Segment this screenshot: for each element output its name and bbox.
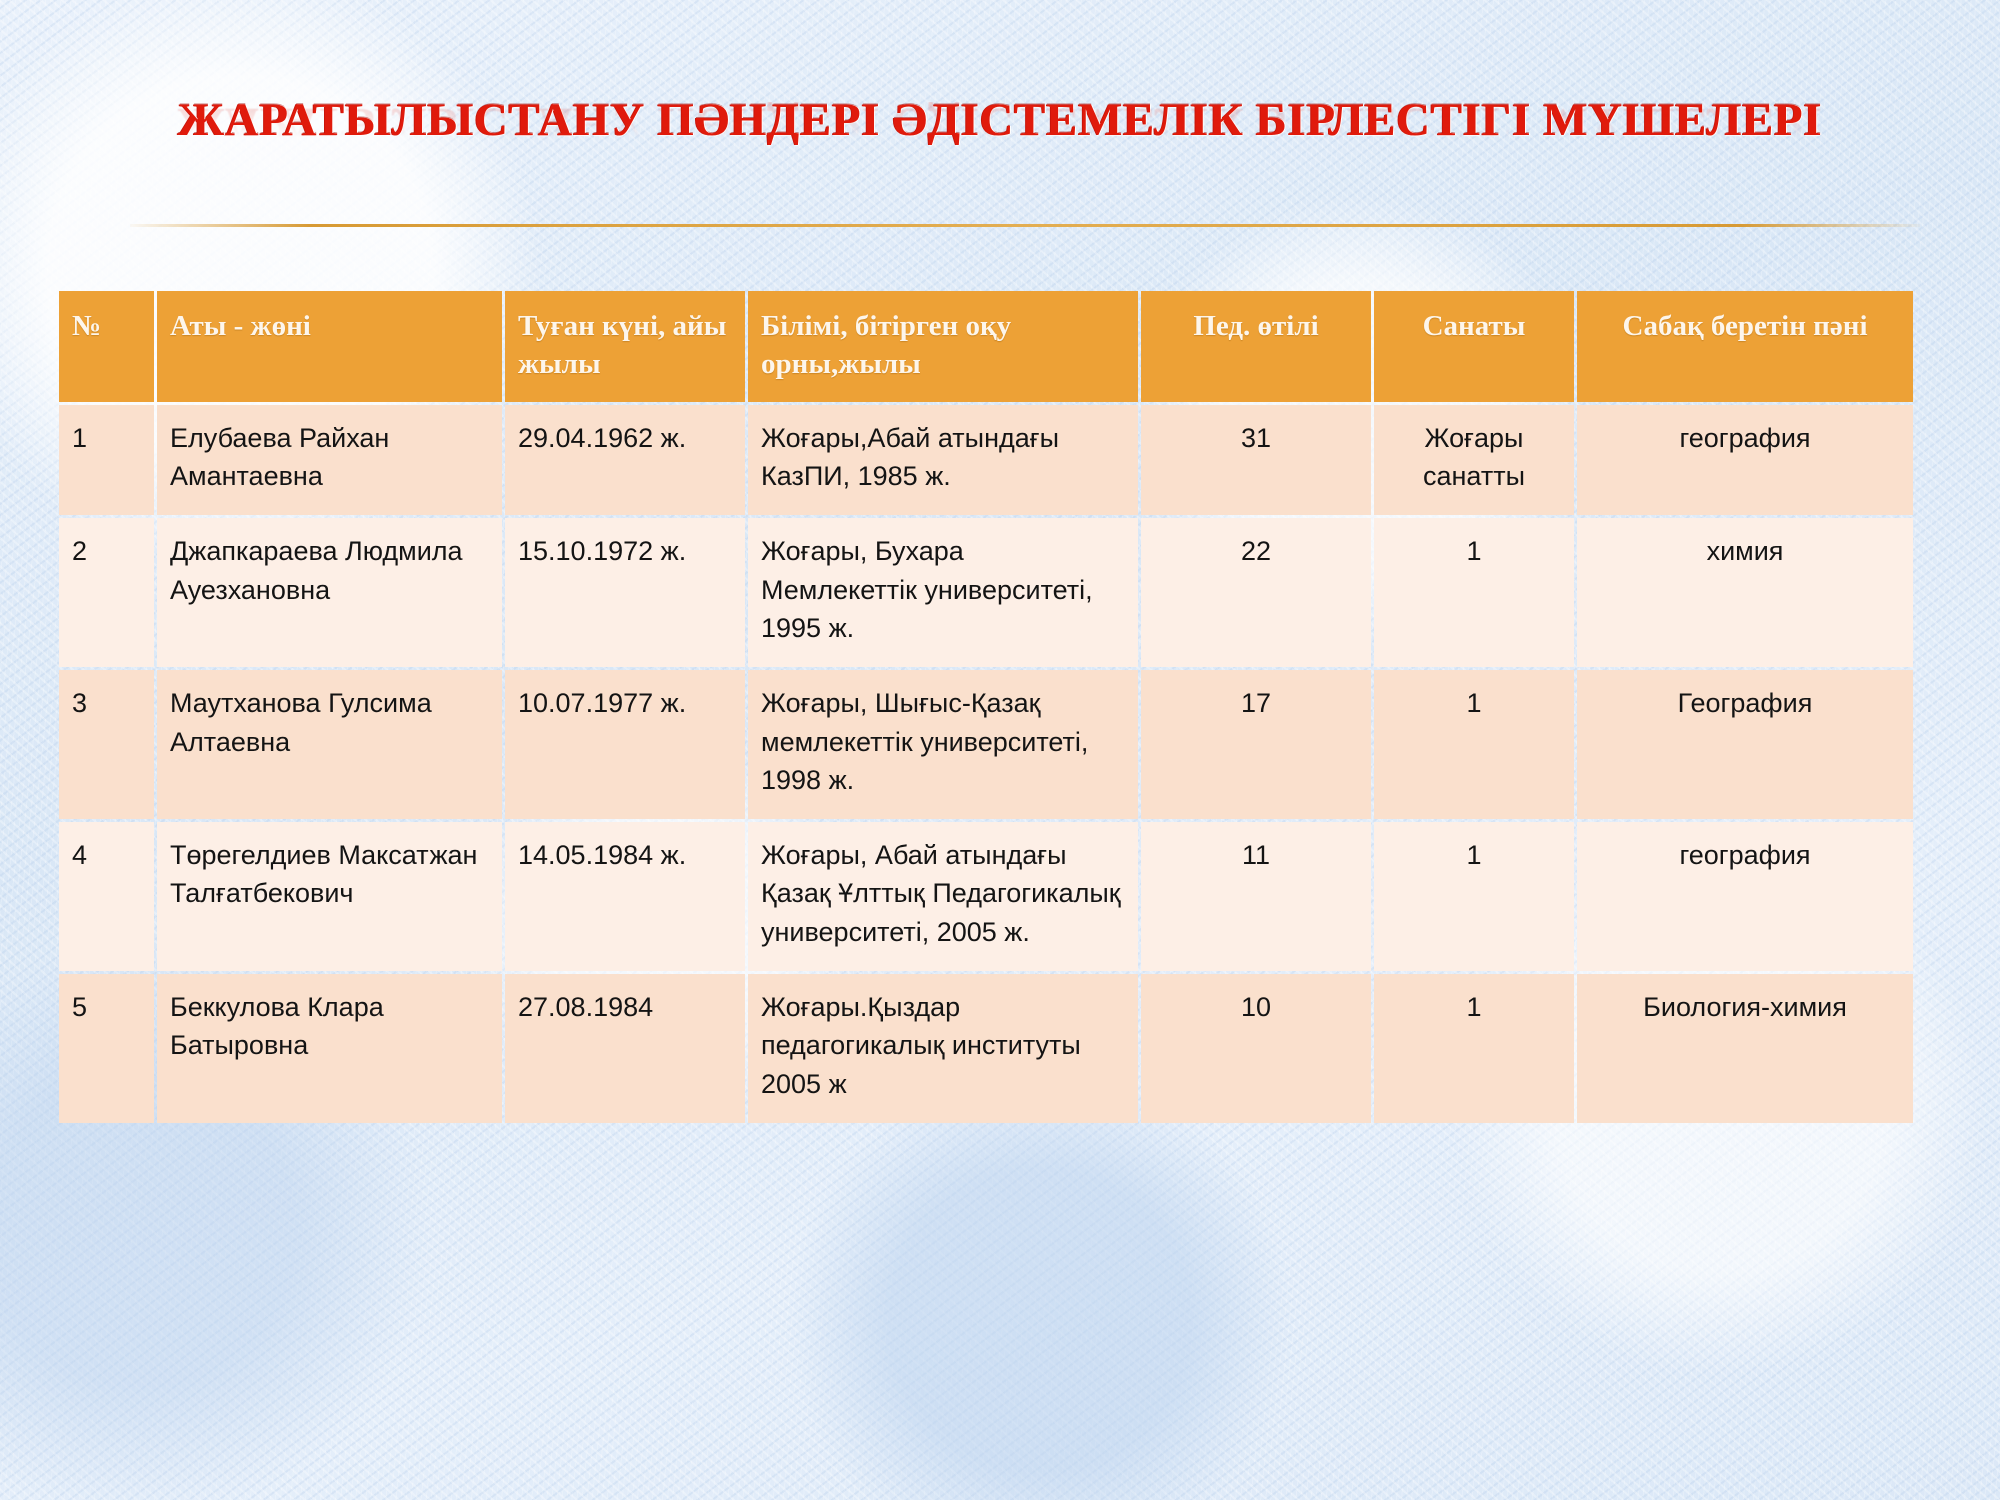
cell-name: Маутханова Гулсима Алтаевна <box>157 670 502 819</box>
cell-education: Жоғары, Шығыс-Қазақ мемлекеттік универси… <box>748 670 1138 819</box>
table-header: № Аты - жөні Туған күні, айы жылы Білімі… <box>59 291 1913 402</box>
column-header-subject[interactable]: Сабақ беретін пәні <box>1577 291 1913 402</box>
table-row[interactable]: 3 Маутханова Гулсима Алтаевна 10.07.1977… <box>59 670 1913 819</box>
cell-number: 1 <box>59 405 154 516</box>
cell-number: 5 <box>59 974 154 1123</box>
table-row[interactable]: 5 Беккулова Клара Батыровна 27.08.1984 Ж… <box>59 974 1913 1123</box>
roster-table-container: № Аты - жөні Туған күні, айы жылы Білімі… <box>56 288 1892 1126</box>
cell-name: Джапкараева Людмила Ауезхановна <box>157 518 502 667</box>
cell-subject: Биология-химия <box>1577 974 1913 1123</box>
cell-birthdate: 15.10.1972 ж. <box>505 518 745 667</box>
cell-birthdate: 14.05.1984 ж. <box>505 822 745 971</box>
title-divider-rule <box>130 224 1920 227</box>
slide-title-block: ЖАРАТЫЛЫСТАНУ ПӘНДЕРІ ӘДІСТЕМЕЛІК БІРЛЕС… <box>0 96 2000 194</box>
table-row[interactable]: 1 Елубаева Райхан Амантаевна 29.04.1962 … <box>59 405 1913 516</box>
column-header-number[interactable]: № <box>59 291 154 402</box>
slide-canvas: ЖАРАТЫЛЫСТАНУ ПӘНДЕРІ ӘДІСТЕМЕЛІК БІРЛЕС… <box>0 0 2000 1500</box>
cell-experience: 22 <box>1141 518 1371 667</box>
cell-education: Жоғары, Бухара Мемлекеттік университеті,… <box>748 518 1138 667</box>
cell-subject: география <box>1577 405 1913 516</box>
column-header-name[interactable]: Аты - жөні <box>157 291 502 402</box>
table-header-row: № Аты - жөні Туған күні, айы жылы Білімі… <box>59 291 1913 402</box>
cell-number: 3 <box>59 670 154 819</box>
cell-subject: география <box>1577 822 1913 971</box>
cell-education: Жоғары.Қыздар педагогикалық институты 20… <box>748 974 1138 1123</box>
page-title: ЖАРАТЫЛЫСТАНУ ПӘНДЕРІ ӘДІСТЕМЕЛІК БІРЛЕС… <box>0 96 2000 146</box>
cell-category: 1 <box>1374 822 1574 971</box>
cell-category: 1 <box>1374 670 1574 819</box>
cell-birthdate: 10.07.1977 ж. <box>505 670 745 819</box>
column-header-education[interactable]: Білімі, бітірген оқу орны,жылы <box>748 291 1138 402</box>
cell-experience: 31 <box>1141 405 1371 516</box>
cell-number: 2 <box>59 518 154 667</box>
table-row[interactable]: 2 Джапкараева Людмила Ауезхановна 15.10.… <box>59 518 1913 667</box>
cell-education: Жоғары,Абай атындағы КазПИ, 1985 ж. <box>748 405 1138 516</box>
cell-category: Жоғары санатты <box>1374 405 1574 516</box>
cell-name: Елубаева Райхан Амантаевна <box>157 405 502 516</box>
cell-name: Беккулова Клара Батыровна <box>157 974 502 1123</box>
cell-category: 1 <box>1374 518 1574 667</box>
cell-experience: 17 <box>1141 670 1371 819</box>
roster-table: № Аты - жөні Туған күні, айы жылы Білімі… <box>56 288 1916 1126</box>
cell-number: 4 <box>59 822 154 971</box>
cell-birthdate: 27.08.1984 <box>505 974 745 1123</box>
table-body: 1 Елубаева Райхан Амантаевна 29.04.1962 … <box>59 405 1913 1124</box>
cell-category: 1 <box>1374 974 1574 1123</box>
column-header-experience[interactable]: Пед. өтілі <box>1141 291 1371 402</box>
cell-experience: 11 <box>1141 822 1371 971</box>
cell-birthdate: 29.04.1962 ж. <box>505 405 745 516</box>
cell-subject: химия <box>1577 518 1913 667</box>
cell-name: Төрегелдиев Максатжан Талғатбекович <box>157 822 502 971</box>
cell-subject: География <box>1577 670 1913 819</box>
cell-experience: 10 <box>1141 974 1371 1123</box>
cell-education: Жоғары, Абай атындағы Қазақ Ұлттық Педаг… <box>748 822 1138 971</box>
column-header-birthdate[interactable]: Туған күні, айы жылы <box>505 291 745 402</box>
table-row[interactable]: 4 Төрегелдиев Максатжан Талғатбекович 14… <box>59 822 1913 971</box>
page-title-reflection: ЖАРАТЫЛЫСТАНУ ПӘНДЕРІ ӘДІСТЕМЕЛІК БІРЛЕС… <box>0 102 2000 148</box>
column-header-category[interactable]: Санаты <box>1374 291 1574 402</box>
